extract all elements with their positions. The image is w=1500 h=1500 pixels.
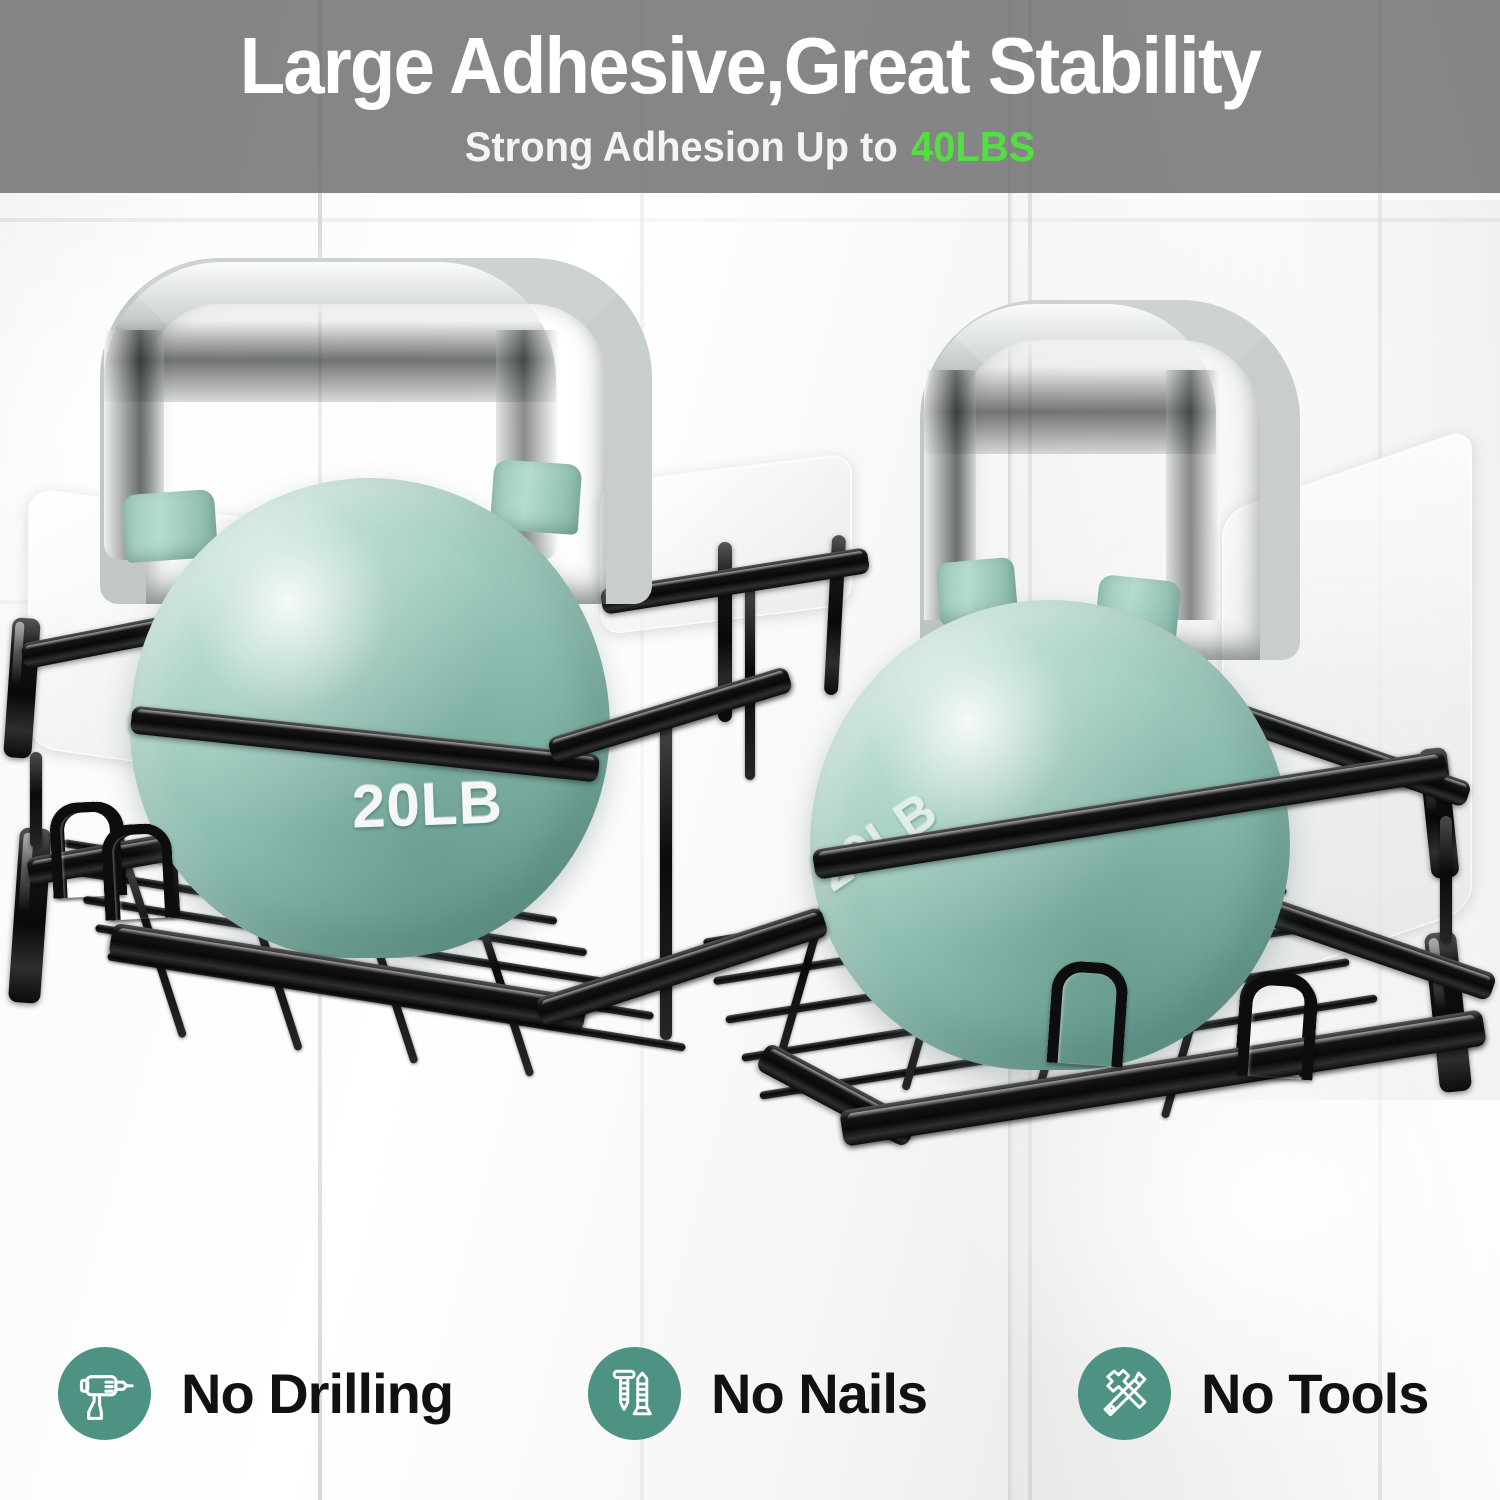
utility-hook-front[interactable] [101, 822, 176, 920]
wrench-screwdriver-icon-badge [1078, 1347, 1171, 1440]
drill-icon-badge [58, 1347, 151, 1440]
header-banner: Large Adhesive,Great Stability Strong Ad… [0, 0, 1500, 193]
screws-icon-badge [588, 1347, 681, 1440]
shelf-rail-upper-side-left [3, 617, 41, 759]
feature-label: No Tools [1201, 1361, 1428, 1426]
utility-hook-front[interactable] [1237, 972, 1320, 1080]
drill-icon [76, 1364, 134, 1422]
feature-label: No Drilling [181, 1361, 453, 1426]
grout-line-horizontal [0, 218, 1500, 222]
side-strut [1440, 816, 1452, 944]
page-subtitle: Strong Adhesion Up to40LBS [38, 126, 1463, 168]
feature-no-tools: No Tools [1078, 1347, 1428, 1440]
kettlebell-weight-label-left: 20LB [351, 767, 504, 841]
screws-icon [606, 1364, 664, 1422]
page-title: Large Adhesive,Great Stability [53, 26, 1448, 106]
product-marketing-image: 20LB 20LB Large Adhesive,Grea [0, 0, 1500, 1500]
feature-label: No Nails [711, 1361, 927, 1426]
center-post [660, 710, 672, 1040]
feature-no-nails: No Nails [588, 1347, 927, 1440]
feature-row: No Drilling No Nails [0, 1318, 1500, 1468]
subtitle-accent-value: 40LBS [911, 123, 1035, 170]
subtitle-text: Strong Adhesion Up to [465, 123, 898, 170]
shelf-rail-bottom-side-left [8, 827, 52, 1004]
wrench-screwdriver-icon [1096, 1364, 1154, 1422]
feature-no-drilling: No Drilling [58, 1347, 453, 1440]
side-strut [30, 752, 42, 848]
utility-hook-front[interactable] [1047, 959, 1130, 1067]
